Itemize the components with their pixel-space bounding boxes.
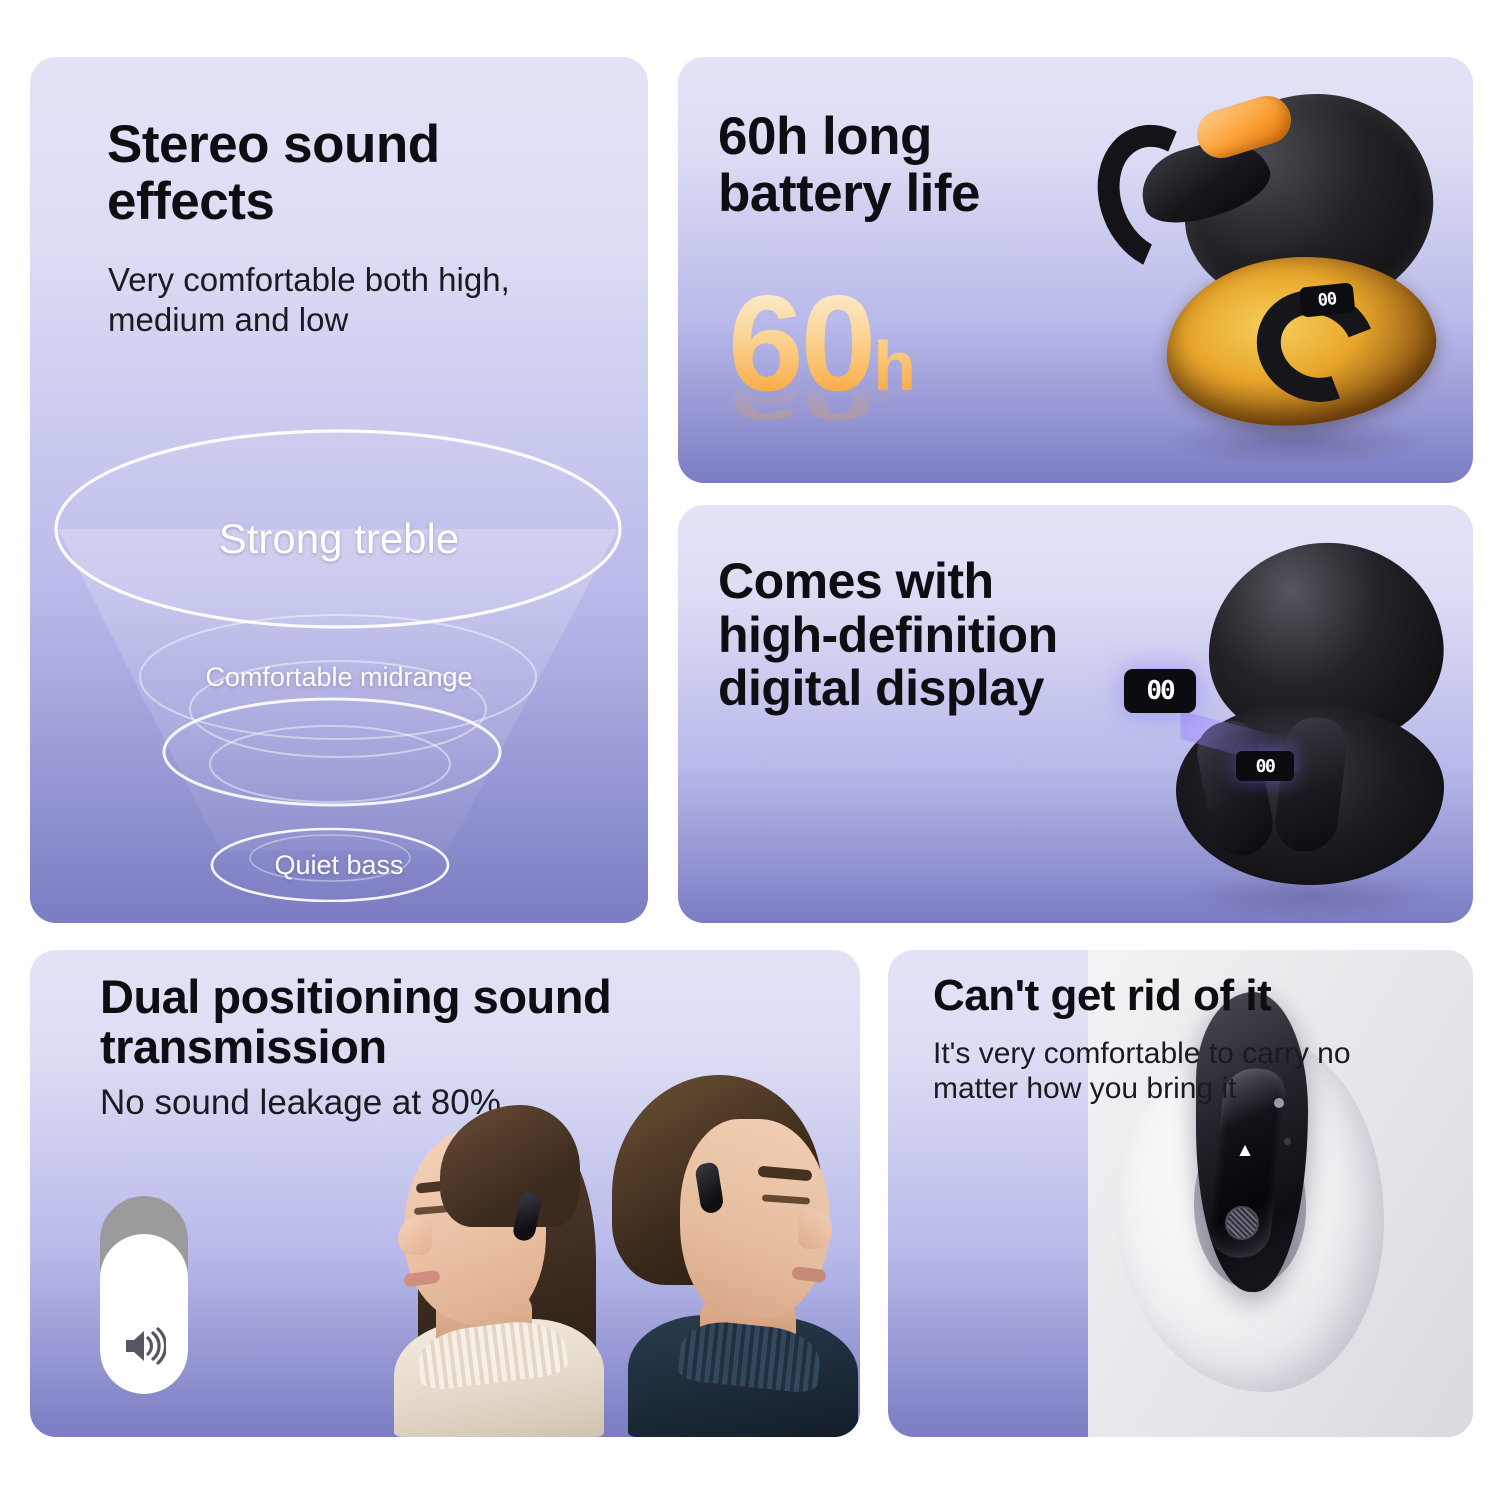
reflection-unit: h	[873, 371, 915, 406]
product-feature-infographic: Stereo sound effects Very comfortable bo…	[0, 0, 1500, 1500]
earbuds-charging-case-gold-image: 00	[1078, 67, 1473, 483]
display-title: Comes with high-definition digital displ…	[718, 555, 1058, 716]
volume-slider-fill	[100, 1234, 188, 1394]
volume-slider[interactable]	[100, 1196, 188, 1394]
card-battery-life: 60h long battery life 60h 60h 00	[678, 57, 1473, 483]
speaker-volume-icon	[122, 1326, 166, 1366]
cone-label-midrange: Comfortable midrange	[30, 662, 648, 693]
woman-nose	[398, 1217, 432, 1255]
dual-title: Dual positioning sound transmission	[100, 972, 611, 1073]
earbuds-case-open-image: 00 00	[1068, 525, 1473, 923]
stereo-subtitle: Very comfortable both high, medium and l…	[108, 260, 510, 341]
ear-with-earbud-image: ▲	[1088, 950, 1473, 1437]
card-stereo-sound-effects: Stereo sound effects Very comfortable bo…	[30, 57, 648, 923]
card-comfortable-carry: ▲ Can't get rid of it It's very comforta…	[888, 950, 1473, 1437]
case-led-readout: 00	[1299, 282, 1356, 317]
reflection-number: 60	[728, 364, 873, 432]
stereo-title: Stereo sound effects	[107, 117, 440, 230]
earbud-speaker-mesh	[1225, 1206, 1259, 1240]
battery-hours-reflection: 60h	[728, 368, 915, 429]
case-led-readout: 00	[1236, 751, 1294, 781]
cone-label-treble: Strong treble	[30, 515, 648, 563]
led-display-callout: 00	[1124, 669, 1196, 713]
carry-title: Can't get rid of it	[933, 972, 1271, 1019]
brand-logo-icon: ▲	[1234, 1140, 1256, 1162]
couple-wearing-earbuds-image	[380, 1060, 860, 1437]
woman-hair-front	[440, 1105, 580, 1227]
cone-label-bass: Quiet bass	[30, 850, 648, 881]
card-digital-display: Comes with high-definition digital displ…	[678, 505, 1473, 923]
earbud-microphone-hole	[1284, 1138, 1291, 1145]
sound-cone-diagram: Strong treble Comfortable midrange Quiet…	[30, 372, 648, 902]
carry-subtitle: It's very comfortable to carry no matter…	[933, 1036, 1351, 1107]
battery-title: 60h long battery life	[718, 109, 980, 222]
